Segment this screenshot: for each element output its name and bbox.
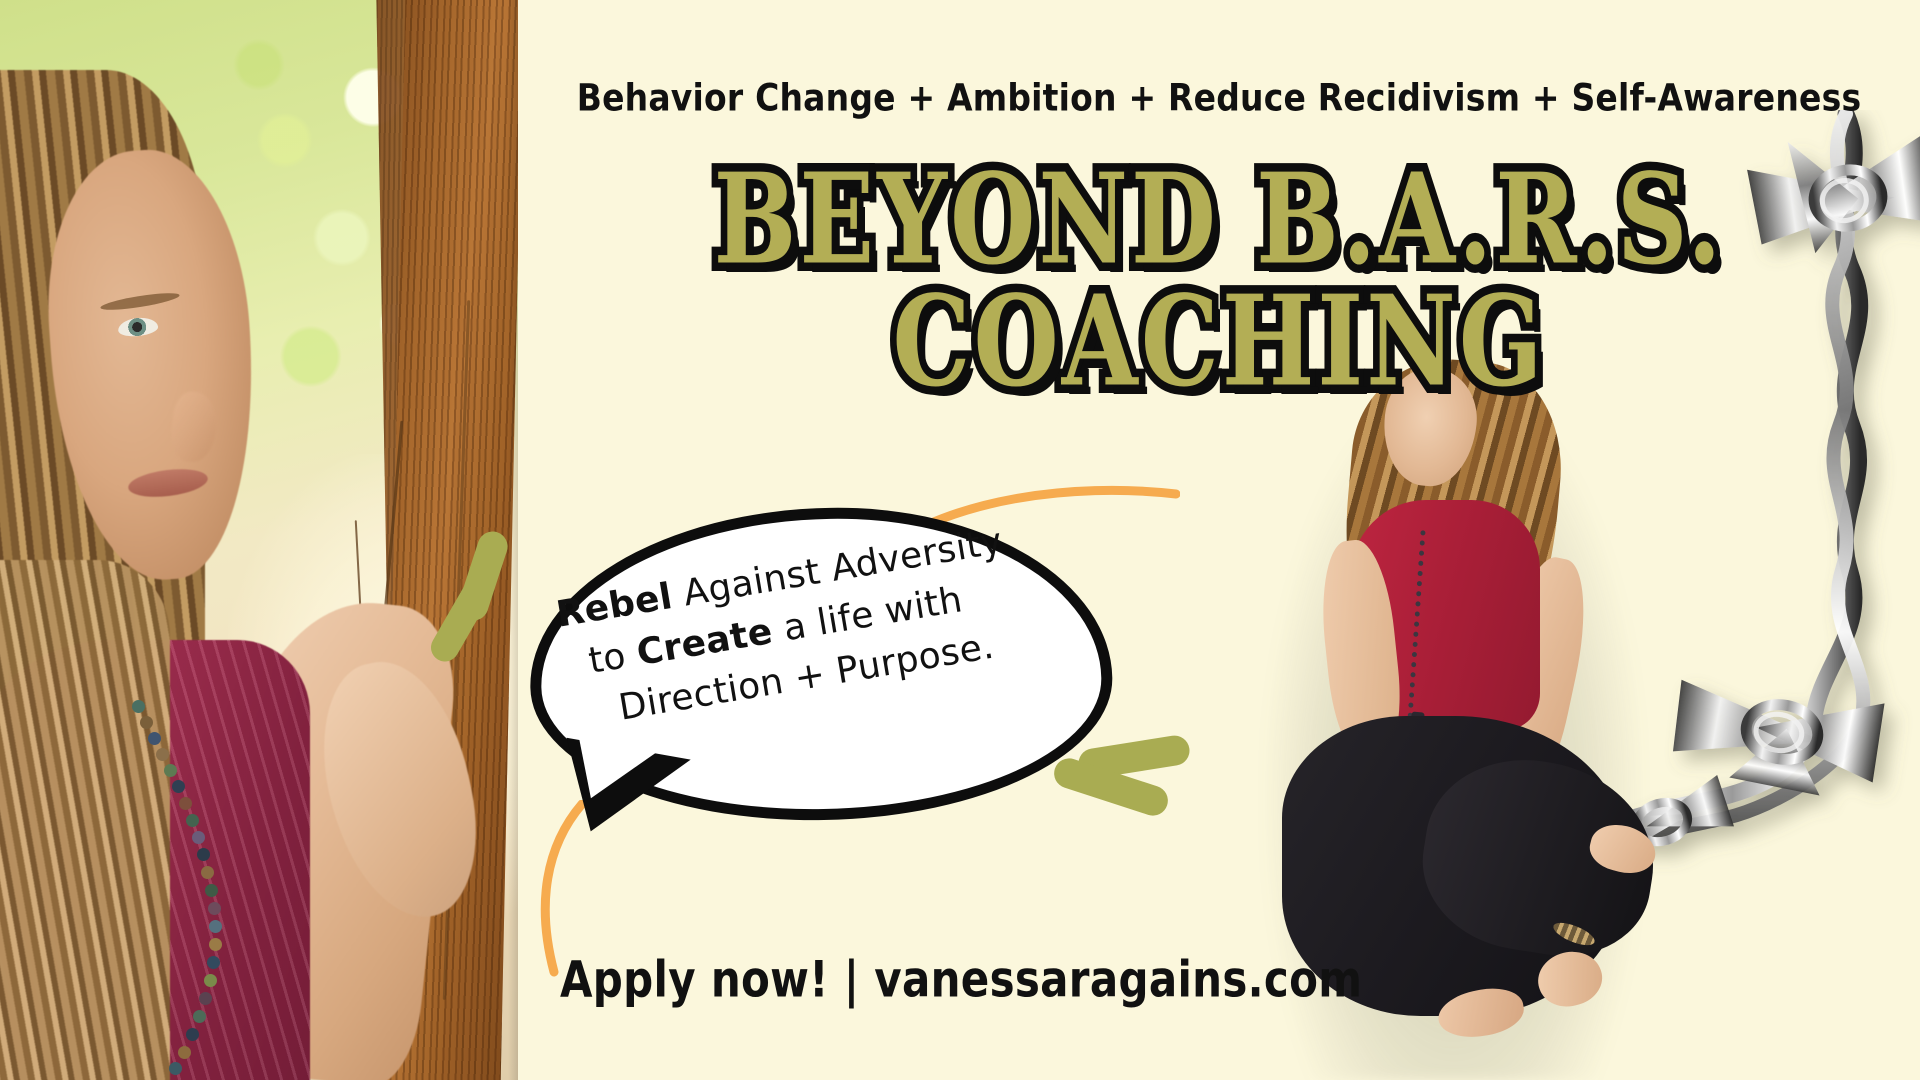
cta-apply-label: Apply now! bbox=[560, 951, 829, 1009]
title-line-2: COACHING bbox=[504, 282, 1920, 402]
cta-website[interactable]: vanessaragains.com bbox=[874, 951, 1362, 1009]
hair-dreadlocks-lower bbox=[0, 560, 170, 1080]
left-portrait-photo bbox=[0, 0, 518, 1080]
title-block: BEYOND B.A.R.S. COACHING bbox=[518, 160, 1920, 374]
tagline-selfawareness: Self-Awareness bbox=[1571, 76, 1861, 120]
speech-bubble-group: Rebel Against Adversity to Create a life… bbox=[520, 470, 1160, 890]
tagline-recidivism: Reduce Recidivism bbox=[1168, 76, 1520, 120]
tagline-sep: + bbox=[1532, 76, 1572, 120]
cta-separator: | bbox=[844, 951, 860, 1009]
title-line-1: BEYOND B.A.R.S. bbox=[504, 160, 1920, 280]
tagline-sep: + bbox=[907, 76, 947, 120]
tagline-ambition: Ambition bbox=[947, 76, 1117, 120]
poster-canvas: Behavior Change + Ambition + Reduce Reci… bbox=[0, 0, 1920, 1080]
tagline-behavior: Behavior Change bbox=[577, 76, 896, 120]
bubble-line-2-pre: to bbox=[586, 634, 641, 682]
cta-line[interactable]: Apply now! | vanessaragains.com bbox=[560, 951, 1362, 1009]
tagline-sep: + bbox=[1128, 76, 1168, 120]
tagline: Behavior Change + Ambition + Reduce Reci… bbox=[518, 76, 1920, 120]
